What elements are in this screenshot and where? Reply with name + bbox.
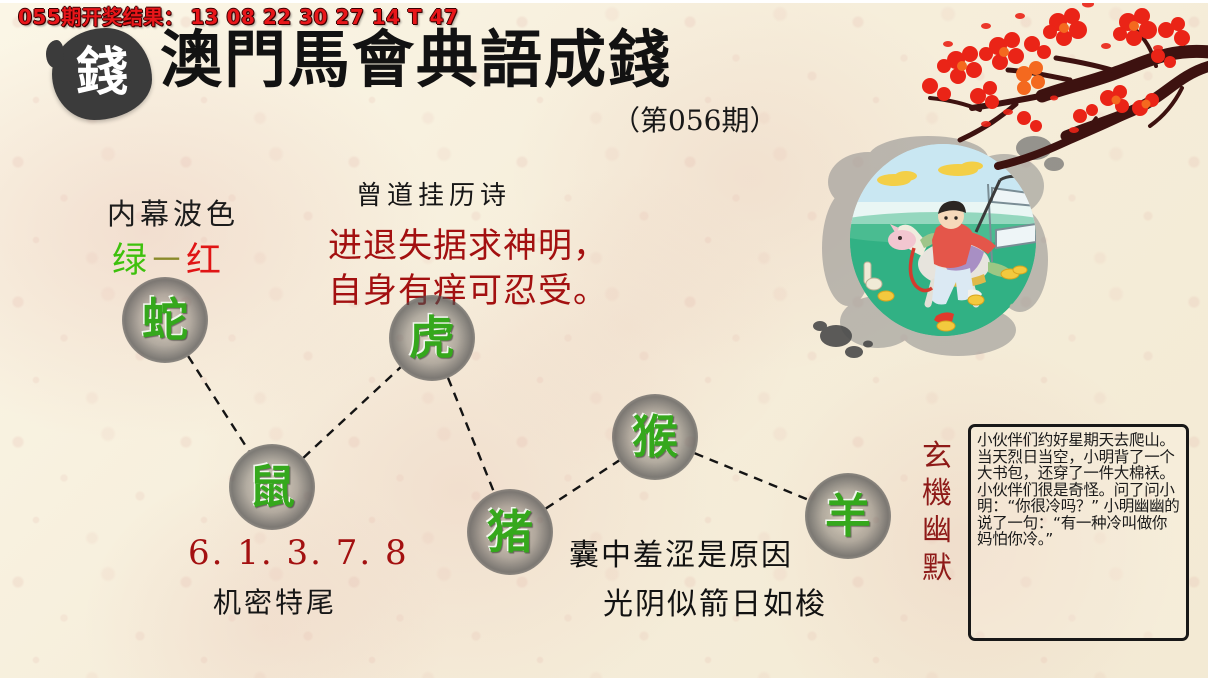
vertical-caption-char-3: 默: [920, 550, 954, 587]
zodiac-node-snake[interactable]: 蛇: [122, 277, 208, 363]
bottom-edge-mask: [0, 678, 1208, 682]
zodiac-node-monkey[interactable]: 猴: [612, 394, 698, 480]
zodiac-char-monkey: 猴: [632, 414, 678, 460]
zodiac-char-goat: 羊: [825, 493, 871, 539]
zodiac-link-tiger-pig: [448, 378, 494, 492]
zodiac-char-pig: 猪: [487, 509, 533, 555]
zodiac-node-tiger[interactable]: 虎: [389, 295, 475, 381]
zodiac-link-snake-rat: [188, 356, 249, 451]
couplet-line-1: 囊中羞涩是原因: [569, 530, 793, 574]
joke-text: 小伙伴们约好星期天去爬山。 当天烈日当空，小明背了一个大书包，还穿了一件大棉袄。…: [977, 432, 1181, 548]
joke-box: 小伙伴们约好星期天去爬山。 当天烈日当空，小明背了一个大书包，还穿了一件大棉袄。…: [968, 424, 1189, 641]
zodiac-node-rat[interactable]: 鼠: [229, 444, 315, 530]
zodiac-char-tiger: 虎: [409, 315, 455, 361]
illustration-container: [836, 136, 1042, 348]
zodiac-char-snake: 蛇: [142, 297, 188, 343]
illustration-image: [850, 144, 1036, 336]
secret-tail-label: 机密特尾: [213, 581, 337, 621]
vertical-caption-char-2: 幽: [920, 512, 954, 549]
zodiac-link-rat-tiger: [303, 367, 400, 457]
secret-tail-numbers: 6. 1. 3. 7. 8: [188, 533, 409, 573]
poster-canvas: 055期开奖结果：13 08 22 30 27 14 T 47 錢 澳門馬會典語…: [0, 0, 1208, 682]
zodiac-link-monkey-goat: [695, 453, 808, 499]
vertical-caption-char-1: 機: [920, 475, 954, 512]
zodiac-node-goat[interactable]: 羊: [805, 473, 891, 559]
zodiac-node-pig[interactable]: 猪: [467, 489, 553, 575]
zodiac-char-rat: 鼠: [249, 464, 295, 510]
vertical-caption-char-0: 玄: [920, 438, 954, 475]
vertical-caption: 玄機幽默: [920, 438, 954, 587]
top-edge-mask: [0, 0, 1208, 3]
zodiac-link-pig-monkey: [546, 461, 619, 509]
couplet-line-2: 光阴似箭日如梭: [603, 579, 827, 623]
